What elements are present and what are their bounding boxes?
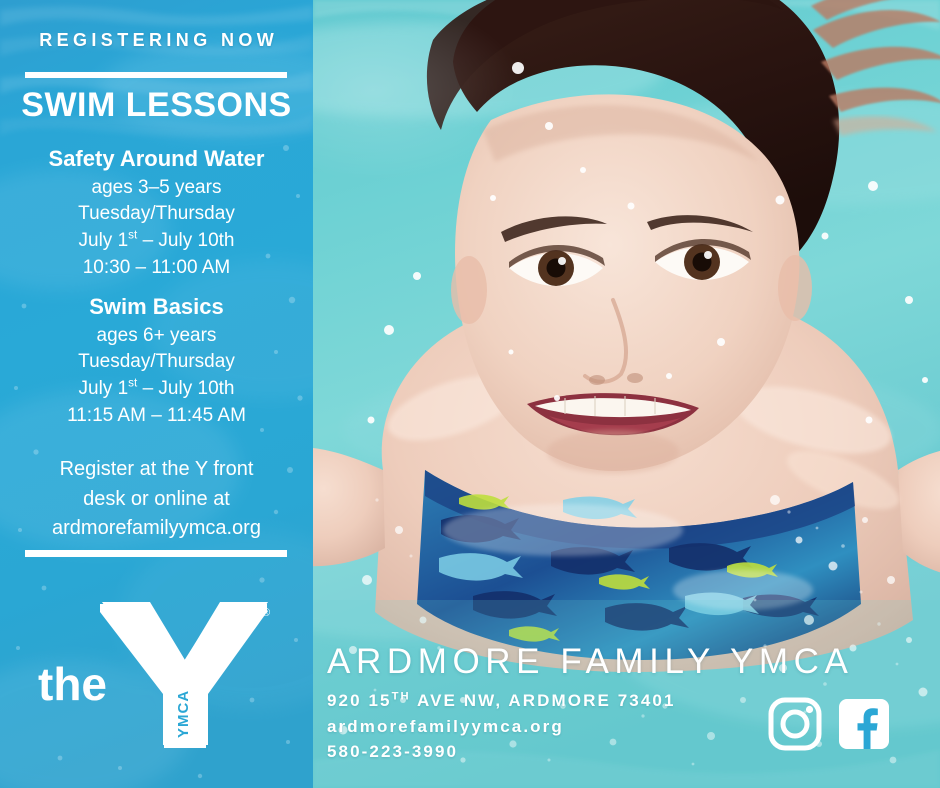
course-block-safety-around-water: Safety Around Water ages 3–5 years Tuesd… — [0, 145, 313, 282]
course-dates-suffix: – July 10th — [137, 230, 234, 251]
social-media-links — [768, 694, 898, 754]
register-line-2: desk or online at — [0, 485, 313, 515]
address-suffix: AVE NW, ARDMORE 73401 — [411, 691, 676, 710]
course-days: Tuesday/Thursday — [0, 349, 313, 376]
course-dates: July 1st – July 10th — [0, 228, 313, 255]
course-dates: July 1st – July 10th — [0, 376, 313, 403]
address-prefix: 920 15 — [327, 691, 392, 710]
course-days: Tuesday/Thursday — [0, 201, 313, 228]
eyebrow-registering-now: REGISTERING NOW — [0, 31, 313, 49]
course-ages: ages 6+ years — [0, 323, 313, 350]
course-dates-prefix: July 1 — [79, 230, 129, 251]
the-wordmark: the — [38, 658, 107, 710]
course-dates-superscript: st — [128, 229, 137, 242]
instagram-icon[interactable] — [768, 697, 822, 751]
facebook-link[interactable] — [837, 697, 891, 751]
course-block-swim-basics: Swim Basics ages 6+ years Tuesday/Thursd… — [0, 293, 313, 430]
register-line-1: Register at the Y front — [0, 455, 313, 485]
organization-name: ARDMORE FAMILY YMCA — [327, 644, 927, 681]
page-title: SWIM LESSONS — [0, 88, 313, 124]
course-dates-suffix: – July 10th — [137, 378, 234, 399]
registered-trademark-icon: ® — [262, 607, 270, 619]
divider-rule-bottom — [25, 550, 287, 557]
facebook-icon[interactable] — [837, 697, 891, 751]
register-website-link[interactable]: ardmorefamilyymca.org — [0, 514, 313, 544]
address-superscript: TH — [392, 690, 411, 702]
course-title: Safety Around Water — [0, 145, 313, 173]
the-y-logo: the ® YMCA — [30, 590, 280, 770]
ymca-vertical-text: YMCA — [175, 690, 192, 738]
course-ages: ages 3–5 years — [0, 175, 313, 202]
course-dates-superscript: st — [128, 377, 137, 390]
course-times: 11:15 AM – 11:45 AM — [0, 403, 313, 430]
divider-rule-top — [25, 72, 287, 78]
course-title: Swim Basics — [0, 293, 313, 321]
info-panel: REGISTERING NOW SWIM LESSONS Safety Arou… — [0, 0, 313, 788]
course-dates-prefix: July 1 — [79, 378, 129, 399]
instagram-link[interactable] — [768, 697, 822, 751]
ymca-logo-svg: the ® YMCA — [30, 590, 280, 770]
course-times: 10:30 – 11:00 AM — [0, 255, 313, 282]
swim-lessons-poster: REGISTERING NOW SWIM LESSONS Safety Arou… — [0, 0, 940, 788]
registration-instructions: Register at the Y front desk or online a… — [0, 455, 313, 544]
